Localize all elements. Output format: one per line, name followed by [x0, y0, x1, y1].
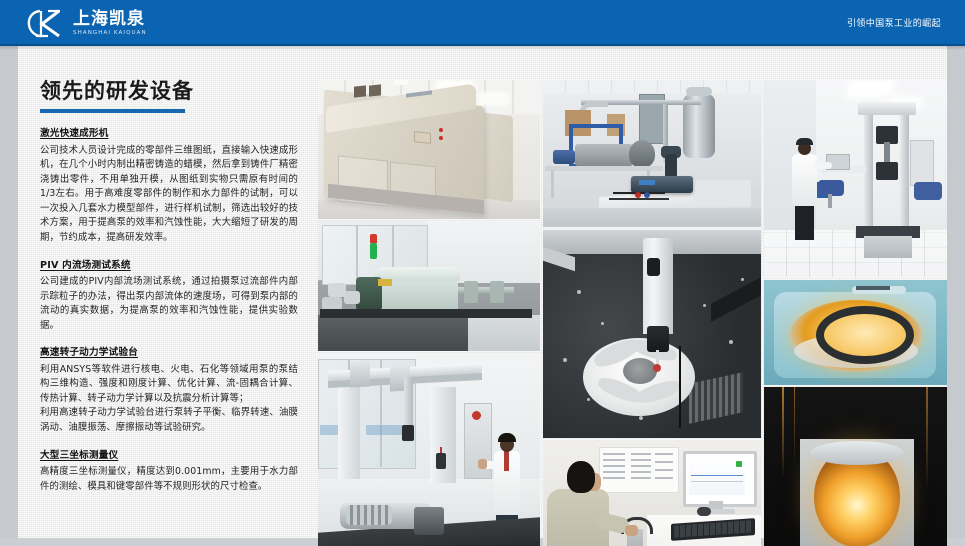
section-piv-system: PIV 内流场测试系统 公司建成的PIV内部流场测试系统，通过拍摄泵过流部件内部… — [40, 259, 298, 334]
photo-large-cmm-room: advantage — [318, 353, 540, 546]
slide-canvas: 上海凯泉 SHANGHAI KAIQUAN 引领中国泵工业的崛起 领先的研发设备… — [0, 0, 965, 546]
section-cmm: 大型三坐标测量仪 高精度三坐标测量仪，精度达到0.001mm，主要用于水力部件的… — [40, 449, 298, 495]
photo-glass-mold-glow — [764, 280, 947, 385]
page-title: 领先的研发设备 — [40, 80, 298, 103]
text-column: 领先的研发设备 激光快速成形机 公司技术人员设计完成的零部件三维图纸，直接输入快… — [40, 80, 298, 507]
section-heading: 激光快速成形机 — [40, 127, 298, 140]
page-header: 上海凯泉 SHANGHAI KAIQUAN 引领中国泵工业的崛起 — [0, 0, 965, 46]
brand-name-en: SHANGHAI KAIQUAN — [73, 31, 147, 37]
section-body: 高精度三坐标测量仪，精度达到0.001mm，主要用于水力部件的测绘、模具和键零部… — [40, 465, 298, 494]
slide-left-margin — [0, 0, 18, 546]
section-heading: 高速转子动力学试验台 — [40, 346, 298, 359]
brand-name-cn: 上海凯泉 — [73, 11, 147, 28]
title-underline — [40, 109, 185, 113]
photo-cmm-impeller-probing — [543, 230, 761, 438]
photo-universal-testing-machine — [764, 80, 947, 277]
section-heading: PIV 内流场测试系统 — [40, 259, 298, 272]
photo-furnace-glow — [764, 387, 947, 546]
section-laser-prototyping: 激光快速成形机 公司技术人员设计完成的零部件三维图纸，直接输入快速成形机，在几个… — [40, 127, 298, 245]
section-body: 公司技术人员设计完成的零部件三维图纸，直接输入快速成形机，在几个小时内制出精密铸… — [40, 144, 298, 246]
slide-right-margin — [947, 0, 965, 546]
kaiquan-k-mark-icon — [26, 8, 66, 39]
photo-piv-flow-test-rig — [543, 80, 761, 227]
photo-mosaic: advantage — [318, 80, 947, 501]
photo-operator-test-console: DBLF — [543, 441, 761, 546]
section-body: 利用ANSYS等软件进行核电、火电、石化等领域用泵的泵结构三维构造、强度和刚度计… — [40, 363, 298, 436]
photo-rotor-dynamics-test-bench — [318, 221, 540, 351]
section-body: 公司建成的PIV内部流场测试系统，通过拍摄泵过流部件内部示踪粒子的办法，得出泵内… — [40, 275, 298, 333]
section-heading: 大型三坐标测量仪 — [40, 449, 298, 462]
section-rotor-dynamics: 高速转子动力学试验台 利用ANSYS等软件进行核电、火电、石化等领域用泵的泵结构… — [40, 346, 298, 435]
brand-logo[interactable]: 上海凯泉 SHANGHAI KAIQUAN — [26, 7, 147, 39]
header-shadow — [0, 44, 965, 50]
header-slogan: 引领中国泵工业的崛起 — [847, 0, 941, 44]
photo-rapid-prototyping-machine — [318, 80, 540, 219]
